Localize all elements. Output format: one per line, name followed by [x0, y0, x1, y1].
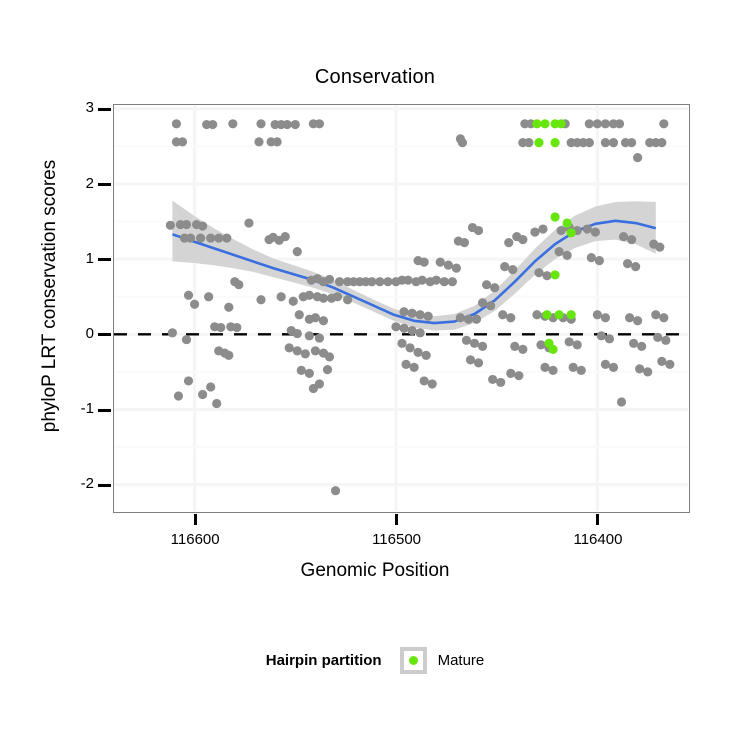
y-axis-tick — [98, 484, 111, 487]
y-axis-tick — [98, 108, 111, 111]
plot-panel — [113, 104, 690, 513]
legend-dot-icon — [409, 656, 418, 665]
y-axis-tick-label: 2 — [60, 175, 94, 192]
y-axis-tick — [98, 333, 111, 336]
plot-canvas — [114, 105, 688, 511]
page-title: Conservation — [0, 66, 750, 89]
x-axis-tick-label: 116500 — [337, 531, 457, 548]
y-axis-tick-label: -2 — [60, 475, 94, 492]
y-axis-tick — [98, 409, 111, 412]
x-axis-tick-label: 116400 — [538, 531, 658, 548]
legend-key-mature[interactable] — [400, 647, 427, 674]
y-axis-tick — [98, 183, 111, 186]
y-axis-tick-label: -1 — [60, 400, 94, 417]
legend: Hairpin partition Mature — [0, 640, 750, 680]
chart-root: Conservation phyloP LRT conservation sco… — [0, 0, 750, 750]
legend-label-mature: Mature — [438, 652, 485, 669]
legend-title: Hairpin partition — [266, 652, 382, 669]
y-axis-tick-label: 3 — [60, 99, 94, 116]
x-axis-tick — [596, 514, 599, 525]
x-axis-tick — [395, 514, 398, 525]
x-axis-tick — [194, 514, 197, 525]
x-axis-tick-label: 116600 — [135, 531, 255, 548]
y-axis-tick-label: 1 — [60, 250, 94, 267]
y-axis-tick-label: 0 — [60, 325, 94, 342]
y-axis-label: phyloP LRT conservation scores — [39, 96, 61, 496]
x-axis-label: Genomic Position — [0, 560, 750, 582]
y-axis-tick — [98, 258, 111, 261]
